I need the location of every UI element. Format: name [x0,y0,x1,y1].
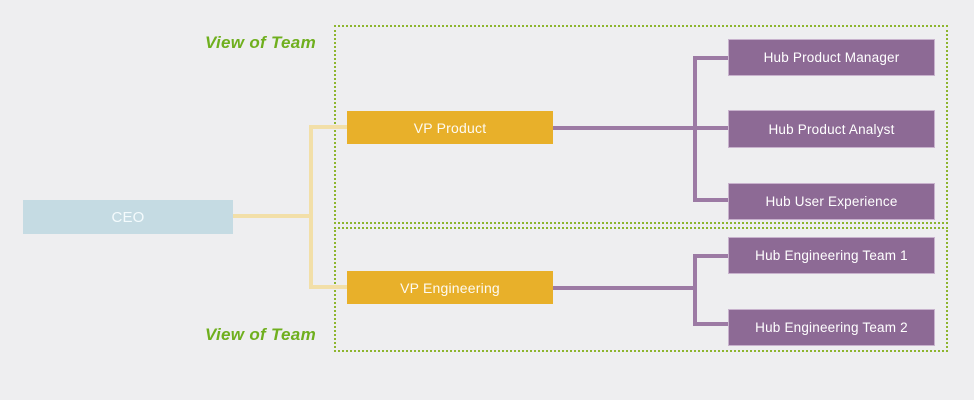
wire-to-hub-product-analyst [693,126,729,130]
wire-to-hub-engineering-team-2 [693,322,729,326]
wire-ceo-vertical-bracket [309,127,313,289]
wire-to-hub-engineering-team-1 [693,254,729,258]
node-hub-product-analyst[interactable]: Hub Product Analyst [728,110,935,148]
wire-ceo-stub [233,214,313,218]
node-ceo[interactable]: CEO [23,200,233,234]
wire-vp-product-stub [553,126,696,130]
wire-to-vp-product [309,125,347,129]
annotation-view-of-team-engineering: View of Team [205,325,316,345]
node-hub-engineering-team-2[interactable]: Hub Engineering Team 2 [728,309,935,346]
org-chart-canvas: CEO VP Product Hub Product Manager Hub P… [0,0,974,400]
wire-to-hub-product-manager [693,56,729,60]
wire-vp-engineering-stub [553,286,696,290]
node-vp-engineering[interactable]: VP Engineering [347,271,553,304]
wire-to-vp-engineering [309,285,347,289]
wire-to-hub-user-experience [693,198,729,202]
node-hub-product-manager[interactable]: Hub Product Manager [728,39,935,76]
annotation-view-of-team-product: View of Team [205,33,316,53]
node-hub-user-experience[interactable]: Hub User Experience [728,183,935,220]
node-vp-product[interactable]: VP Product [347,111,553,144]
wire-engineering-vertical-bracket [693,254,697,326]
node-hub-engineering-team-1[interactable]: Hub Engineering Team 1 [728,237,935,274]
